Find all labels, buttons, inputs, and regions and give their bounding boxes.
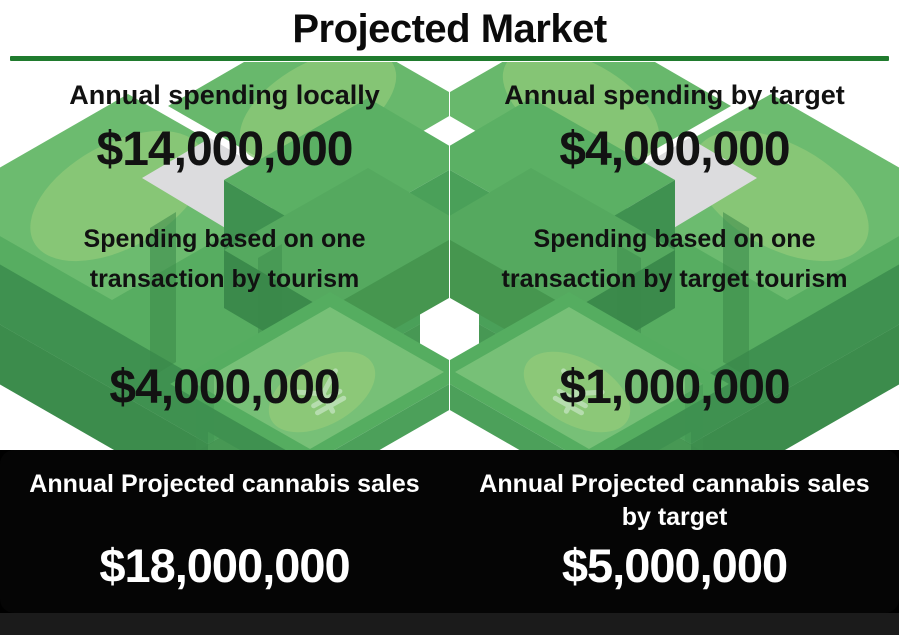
panel-text-locally: Annual spending locally $14,000,000 Spen… xyxy=(0,62,449,450)
label-transaction-basis-target: Spending based on one transaction by tar… xyxy=(488,219,861,299)
amount-annual-spending-target: $4,000,000 xyxy=(450,122,899,178)
footer-base-strip xyxy=(0,613,899,635)
page-title: Projected Market xyxy=(0,6,899,52)
amount-projected-sales: $18,000,000 xyxy=(0,538,449,594)
amount-projected-sales-target: $5,000,000 xyxy=(450,538,899,594)
footer-column-by-target: Annual Projected cannabis sales by targe… xyxy=(450,450,899,613)
footer: Annual Projected cannabis sales $18,000,… xyxy=(0,450,899,635)
panel-locally: Annual spending locally $14,000,000 Spen… xyxy=(0,62,449,450)
title-divider xyxy=(10,56,889,61)
panel-by-target: Annual spending by target $4,000,000 Spe… xyxy=(450,62,899,450)
label-projected-sales-target: Annual Projected cannabis sales by targe… xyxy=(466,468,883,534)
label-transaction-basis: Spending based on one transaction by tou… xyxy=(38,219,411,299)
footer-column-locally: Annual Projected cannabis sales $18,000,… xyxy=(0,450,449,613)
infographic-root: Projected Market xyxy=(0,0,899,635)
amount-transaction-basis: $4,000,000 xyxy=(0,360,449,416)
label-annual-spending-target: Annual spending by target xyxy=(450,79,899,111)
amount-annual-spending: $14,000,000 xyxy=(0,122,449,178)
footer-panel: Annual Projected cannabis sales $18,000,… xyxy=(0,450,899,613)
amount-transaction-basis-target: $1,000,000 xyxy=(450,360,899,416)
label-annual-spending: Annual spending locally xyxy=(0,79,449,111)
panels: Annual spending locally $14,000,000 Spen… xyxy=(0,62,899,450)
header: Projected Market xyxy=(0,0,899,62)
panel-text-by-target: Annual spending by target $4,000,000 Spe… xyxy=(450,62,899,450)
label-projected-sales: Annual Projected cannabis sales xyxy=(16,468,433,501)
